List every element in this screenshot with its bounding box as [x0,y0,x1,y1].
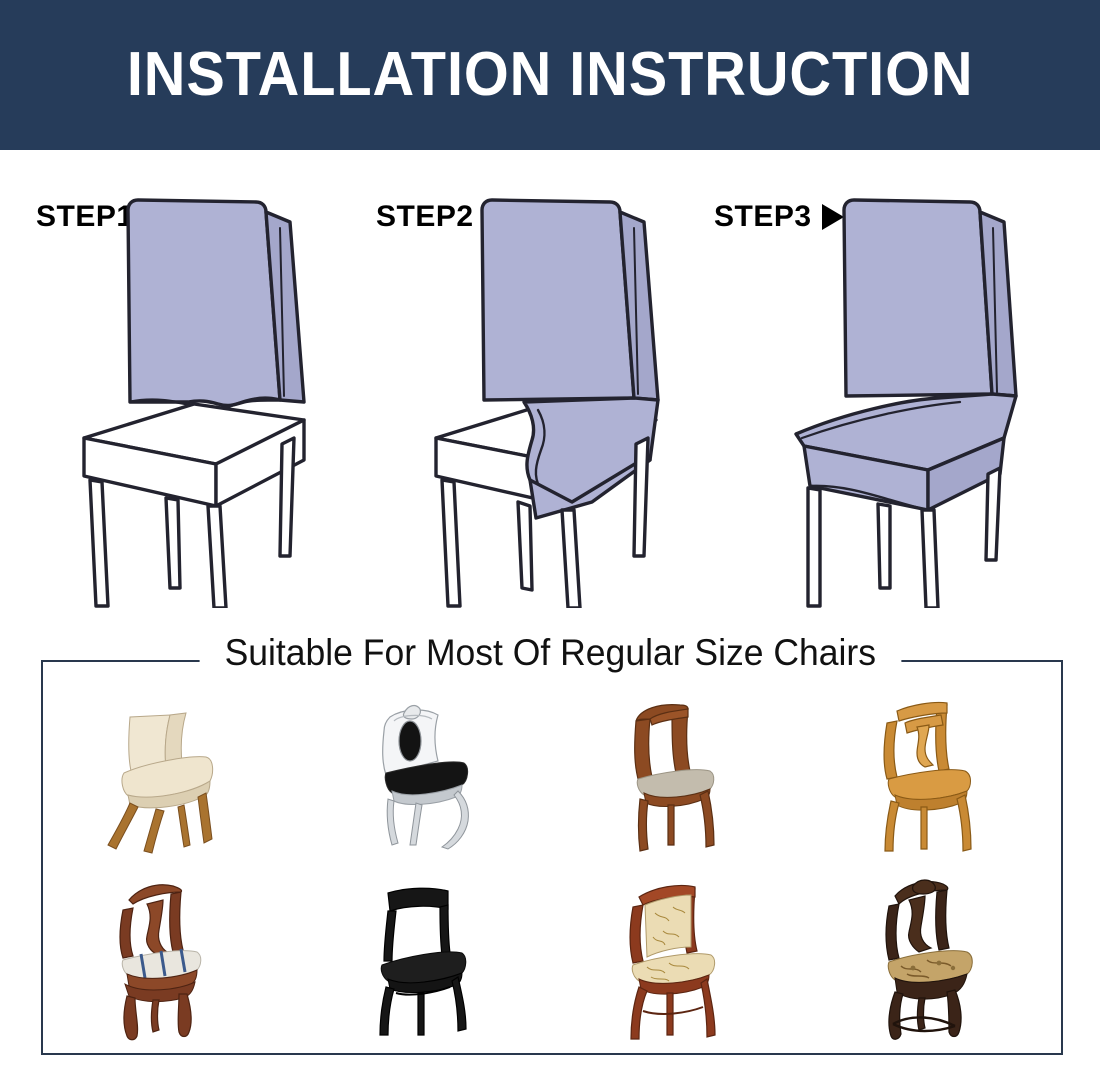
chair-photo-silver-baroque [297,678,553,866]
chair-photo-honey-oak-fiddleback [808,678,1064,866]
suitable-chairs-grid [41,678,1063,1053]
chair-illustration-step-3 [778,188,1048,608]
step-1: STEP1 [18,150,358,620]
step-2: STEP2 [358,150,698,620]
header-banner: INSTALLATION INSTRUCTION [0,0,1100,150]
installation-instruction-page: INSTALLATION INSTRUCTION STEP1 [0,0,1100,1065]
chair-photo-rococo-tapestry [808,866,1064,1054]
chair-photo-walnut-slot-back [552,678,808,866]
step-3: STEP3 [700,150,1040,620]
chair-photo-chippendale-mahogany [41,866,297,1054]
steps-row: STEP1 [0,150,1100,620]
chair-illustration-step-1 [68,188,338,608]
chair-illustration-step-2 [420,188,690,608]
page-title: INSTALLATION INSTRUCTION [127,44,974,106]
chair-photo-cream-upholstered [41,678,297,866]
chair-photo-mahogany-floral [552,866,808,1054]
chair-photo-black-lacquer [297,866,553,1054]
